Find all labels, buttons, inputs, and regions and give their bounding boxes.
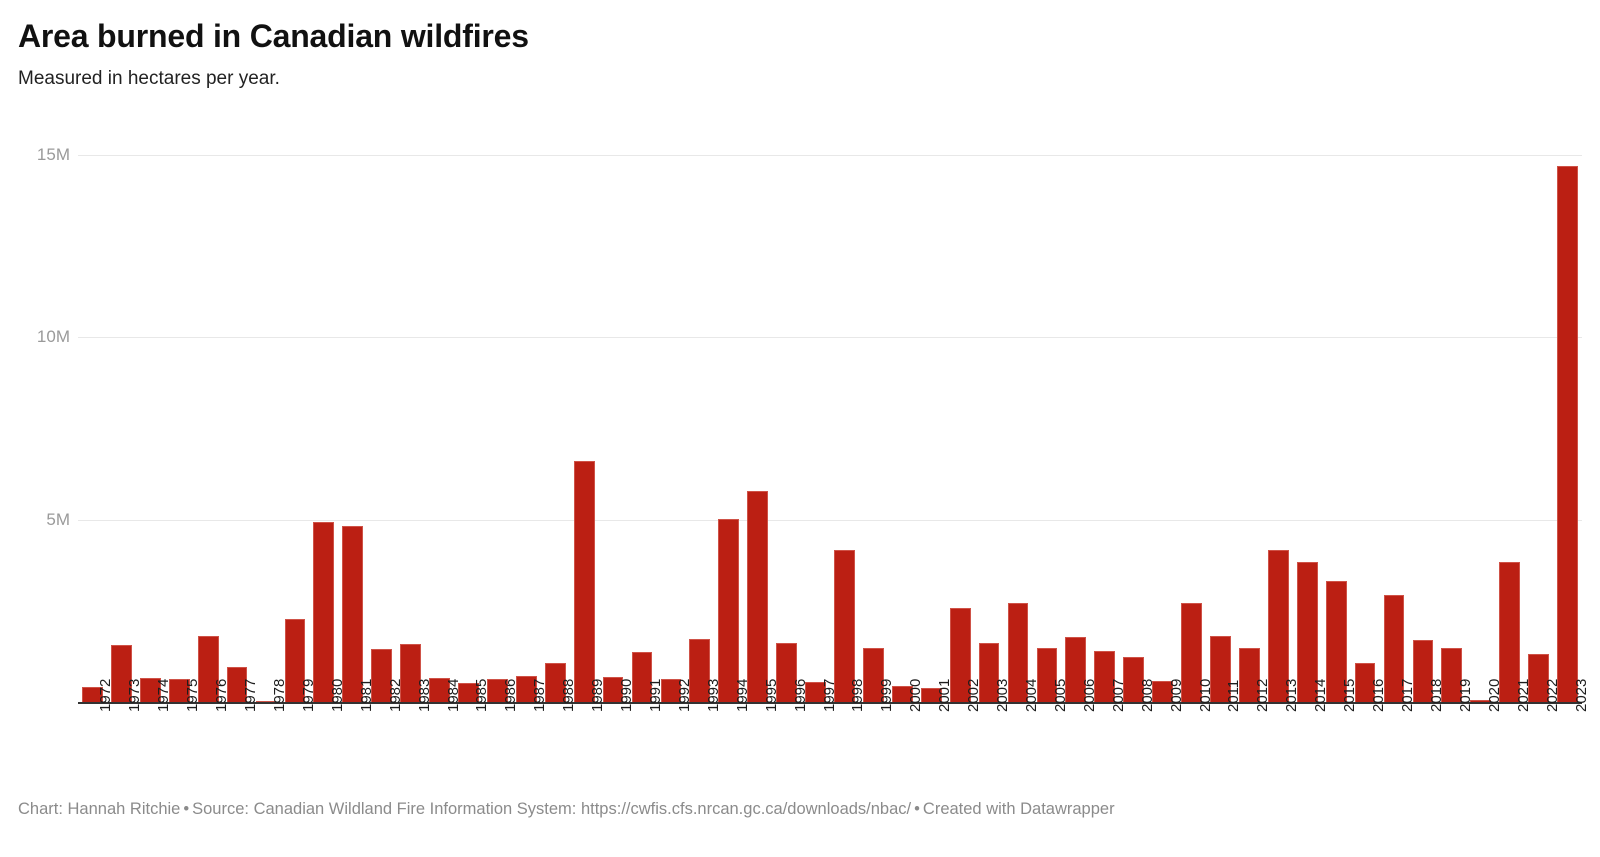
x-axis-tick-label: 1980 (330, 679, 345, 712)
x-axis-tick-label: 2009 (1169, 679, 1184, 712)
x-axis-tick-label: 1976 (214, 679, 229, 712)
x-axis-tick-label: 1991 (648, 679, 663, 712)
x-axis-tick-label: 1990 (619, 679, 634, 712)
y-axis-tick-label: 15M (14, 146, 70, 163)
footer-separator-1: • (180, 800, 192, 818)
x-axis-tick-label: 2020 (1487, 679, 1502, 712)
x-axis-tick-label: 2014 (1313, 679, 1328, 712)
x-axis-tick-label: 1986 (503, 679, 518, 712)
x-axis-tick-label: 2007 (1111, 679, 1126, 712)
x-axis-tick-label: 1973 (127, 679, 142, 712)
y-axis-tick-label: 5M (14, 511, 70, 528)
x-axis-tick-label: 1992 (677, 679, 692, 712)
x-axis-tick-label: 1989 (590, 679, 605, 712)
x-axis-tick-label: 1999 (879, 679, 894, 712)
x-axis-tick-label: 2005 (1053, 679, 1068, 712)
x-axis-tick-label: 1982 (388, 679, 403, 712)
x-axis-tick-label: 2004 (1024, 679, 1039, 712)
x-axis-tick-label: 1996 (793, 679, 808, 712)
x-axis-tick-label: 2011 (1226, 680, 1241, 712)
x-axis-labels: 1972197319741975197619771978197919801981… (78, 0, 1582, 857)
x-axis-tick-label: 2001 (937, 679, 952, 712)
x-axis-tick-label: 2019 (1458, 679, 1473, 712)
x-axis-tick-label: 1975 (185, 679, 200, 712)
x-axis-tick-label: 2010 (1198, 679, 1213, 712)
x-axis-tick-label: 1972 (98, 679, 113, 712)
footer-tool: Created with Datawrapper (923, 800, 1115, 818)
x-axis-tick-label: 1977 (243, 679, 258, 712)
x-axis-tick-label: 1988 (561, 679, 576, 712)
x-axis-tick-label: 2016 (1371, 679, 1386, 712)
x-axis-tick-label: 2003 (995, 679, 1010, 712)
x-axis-tick-label: 1993 (706, 679, 721, 712)
x-axis-tick-label: 1981 (359, 679, 374, 712)
x-axis-tick-label: 1994 (735, 679, 750, 712)
x-axis-tick-label: 2018 (1429, 679, 1444, 712)
chart-container: Area burned in Canadian wildfires Measur… (0, 0, 1600, 857)
x-axis-tick-label: 2012 (1255, 679, 1270, 712)
x-axis-tick-label: 2023 (1574, 679, 1589, 712)
x-axis-tick-label: 1987 (532, 679, 547, 712)
x-axis-tick-label: 2021 (1516, 679, 1531, 712)
x-axis-tick-label: 2017 (1400, 679, 1415, 712)
x-axis-tick-label: 1979 (301, 679, 316, 712)
x-axis-tick-label: 2002 (966, 679, 981, 712)
footer-separator-2: • (911, 800, 923, 818)
footer-credit: Chart: Hannah Ritchie (18, 800, 180, 818)
x-axis-tick-label: 1997 (822, 679, 837, 712)
x-axis-tick-label: 2000 (908, 679, 923, 712)
x-axis-tick-label: 1974 (156, 679, 171, 712)
x-axis-tick-label: 2008 (1140, 679, 1155, 712)
x-axis-tick-label: 1984 (446, 679, 461, 712)
x-axis-tick-label: 2015 (1342, 679, 1357, 712)
x-axis-tick-label: 2022 (1545, 679, 1560, 712)
x-axis-tick-label: 1995 (764, 679, 779, 712)
x-axis-tick-label: 2013 (1284, 679, 1299, 712)
chart-footer: Chart: Hannah Ritchie•Source: Canadian W… (18, 798, 1578, 820)
y-axis-tick-label: 10M (14, 328, 70, 345)
x-axis-tick-label: 1998 (850, 679, 865, 712)
x-axis-tick-label: 2006 (1082, 679, 1097, 712)
footer-source[interactable]: Source: Canadian Wildland Fire Informati… (192, 800, 911, 818)
x-axis-tick-label: 1978 (272, 679, 287, 712)
x-axis-tick-label: 1985 (474, 679, 489, 712)
x-axis-tick-label: 1983 (417, 679, 432, 712)
